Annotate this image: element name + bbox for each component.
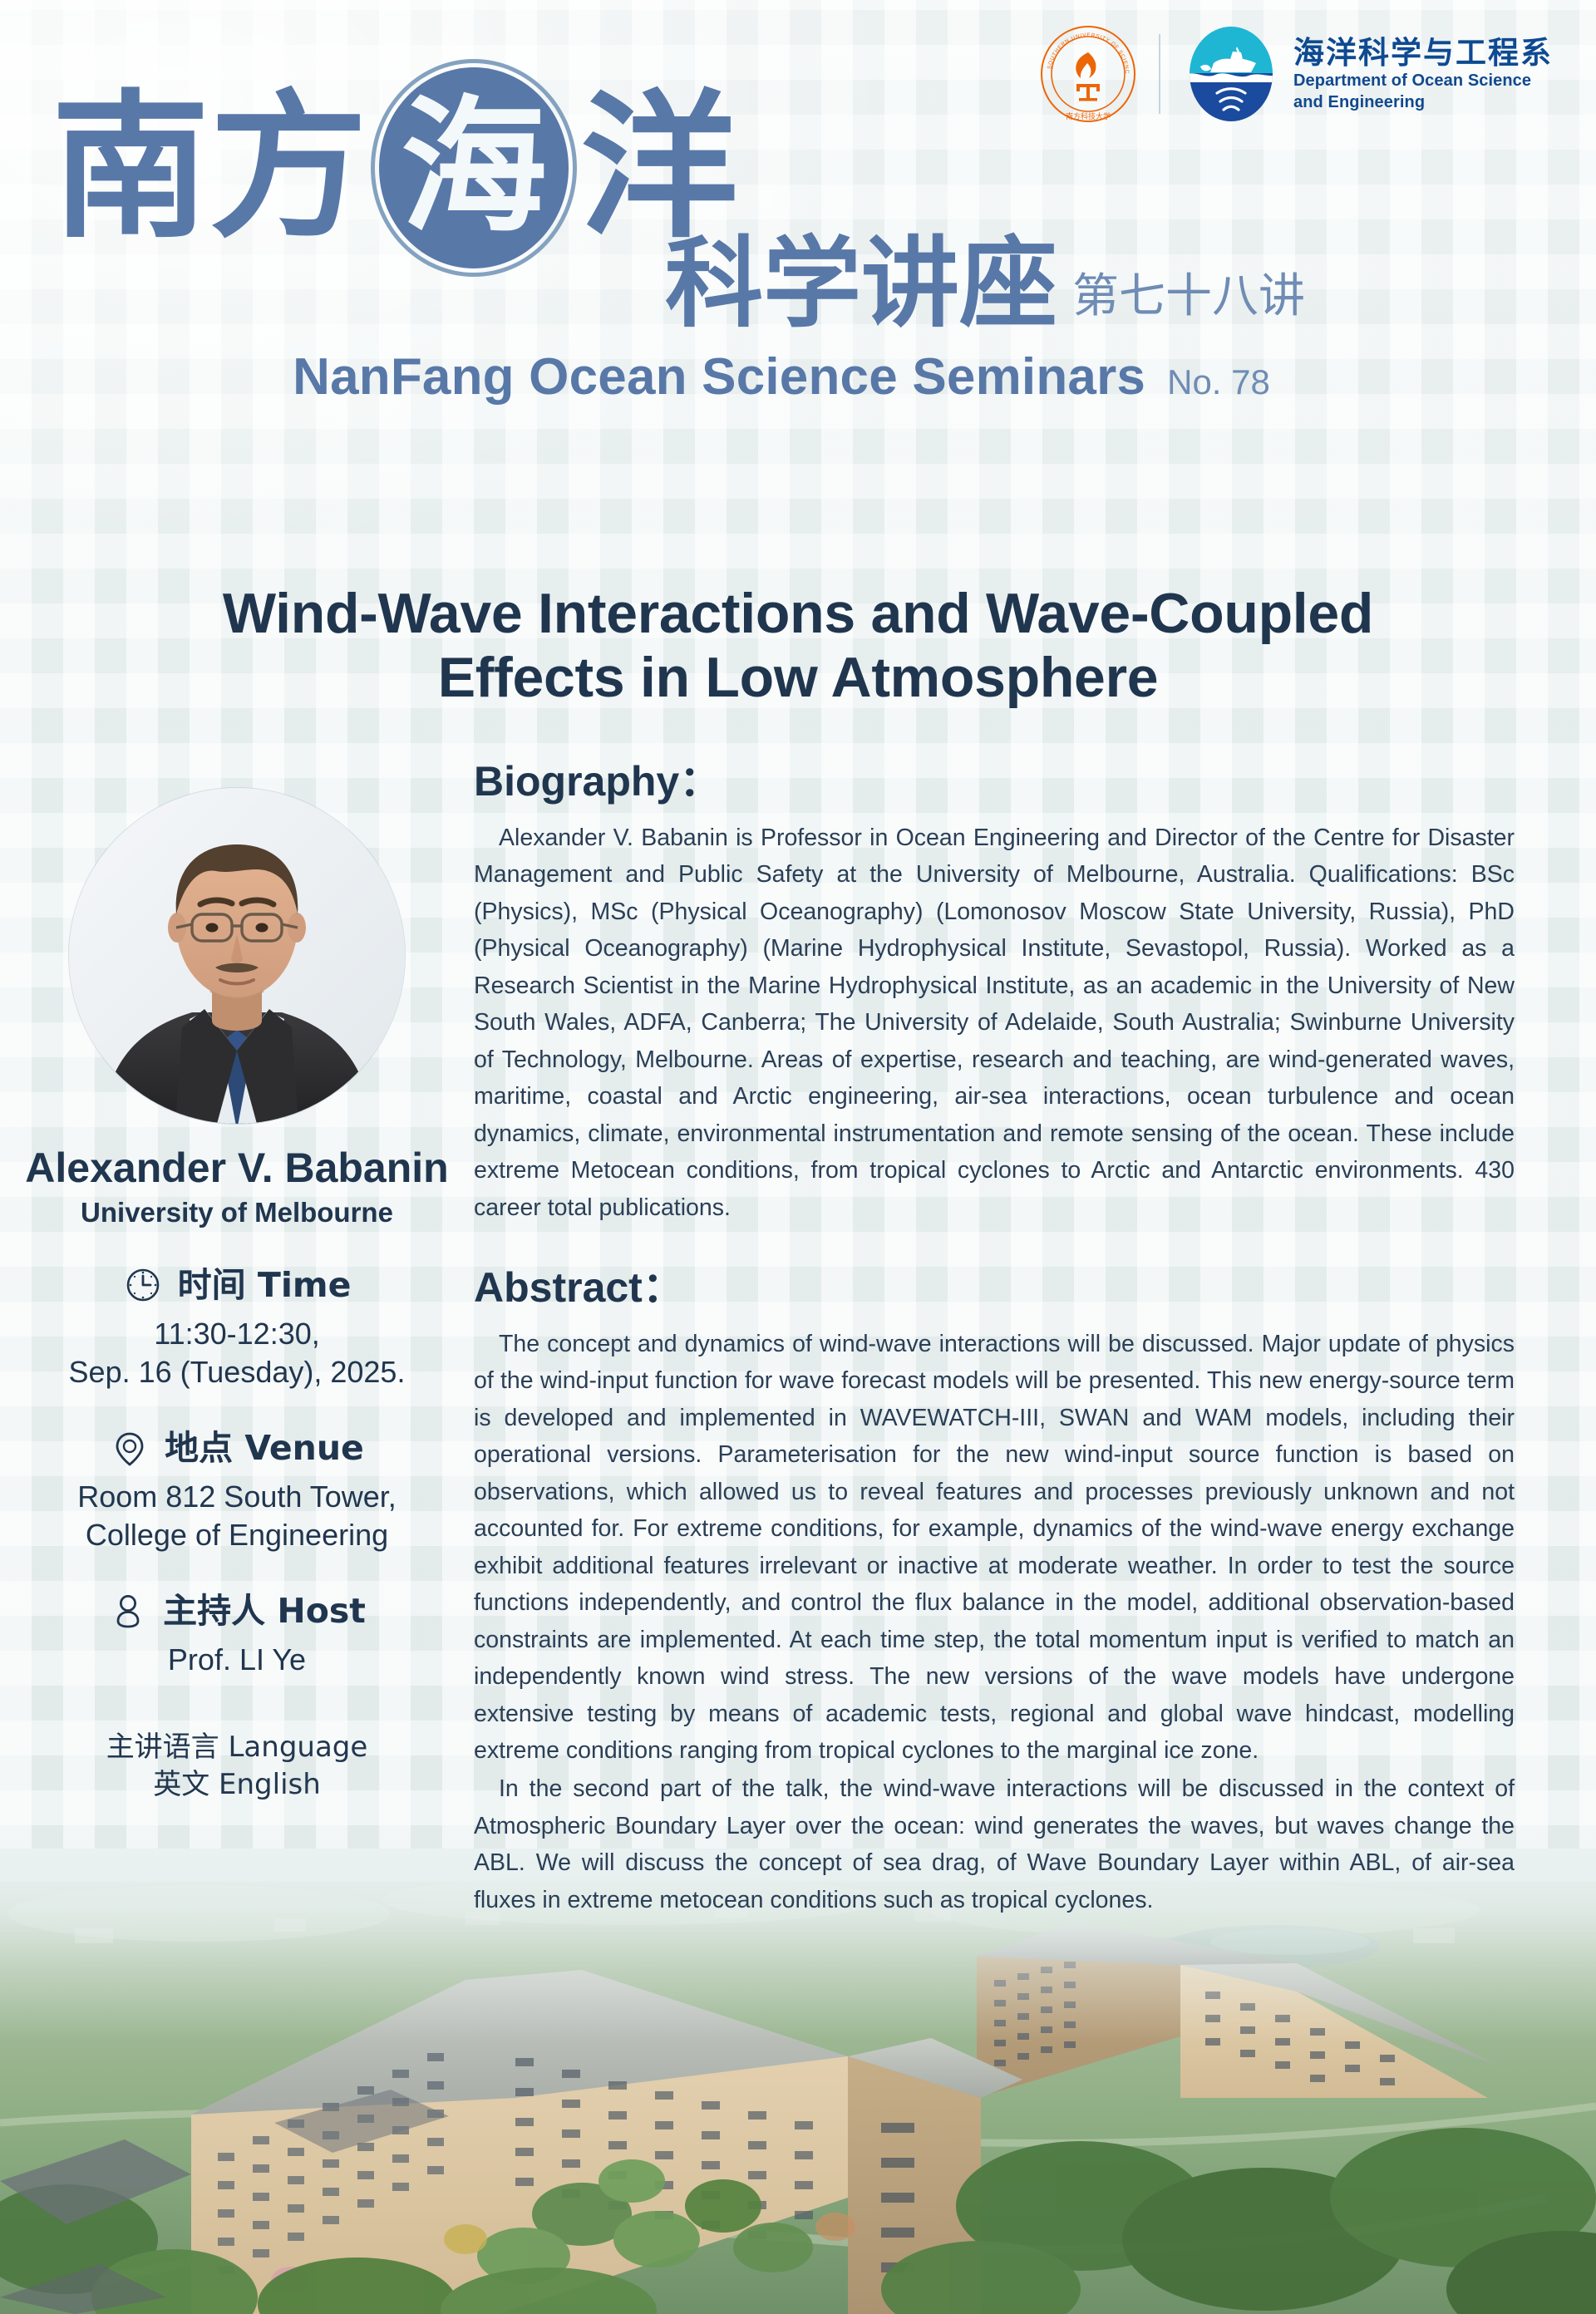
svg-text:SOUTHERN UNIVERSITY OF SCIENCE: SOUTHERN UNIVERSITY OF SCIENCE AND TECHN… bbox=[1039, 25, 1130, 74]
time-value-line-1: 11:30-12:30, bbox=[0, 1315, 474, 1353]
brand-char-fang: 方 bbox=[209, 89, 367, 247]
biography-heading: Biography： bbox=[474, 748, 1515, 808]
language-block: 主讲语言 Language 英文 English bbox=[106, 1729, 368, 1802]
abstract-paragraph-1: The concept and dynamics of wind-wave in… bbox=[474, 1326, 1515, 1769]
time-label: 时间 Time bbox=[178, 1268, 352, 1302]
brand-series-en: NanFang Ocean Science Seminars bbox=[293, 347, 1145, 406]
sustech-seal-icon: 南方科技大学 SOUTHERN UNIVERSITY OF SCIENCE AN… bbox=[1039, 25, 1137, 123]
seminar-poster: 南方科技大学 SOUTHERN UNIVERSITY OF SCIENCE AN… bbox=[0, 0, 1596, 2314]
svg-text:南方科技大学: 南方科技大学 bbox=[1066, 111, 1111, 121]
person-icon bbox=[108, 1591, 148, 1631]
brand-subtitle-cn: 科学讲座 bbox=[665, 234, 1057, 332]
abstract-heading: Abstract： bbox=[474, 1254, 1515, 1314]
biography-heading-colon: ： bbox=[679, 757, 721, 805]
department-name-cn: 海洋科学与工程系 bbox=[1293, 37, 1553, 69]
speaker-portrait bbox=[69, 788, 405, 1124]
biography-heading-text: Biography bbox=[474, 758, 679, 805]
abstract-paragraph-2: In the second part of the talk, the wind… bbox=[474, 1770, 1515, 1918]
host-block: 主持人 Host Prof. LI Ye bbox=[0, 1591, 474, 1679]
venue-block: 地点 Venue Room 812 South Tower, College o… bbox=[0, 1428, 474, 1554]
sustech-seal-logo: 南方科技大学 SOUTHERN UNIVERSITY OF SCIENCE AN… bbox=[1039, 25, 1137, 123]
biography-paragraph: Alexander V. Babanin is Professor in Oce… bbox=[474, 820, 1515, 1226]
talk-title: Wind-Wave Interactions and Wave-Coupled … bbox=[0, 582, 1596, 710]
brand-issue-cn: 第七十八讲 bbox=[1072, 258, 1305, 332]
brand-char-nan: 南 bbox=[52, 89, 209, 247]
time-header: 时间 Time bbox=[0, 1265, 474, 1305]
time-value-line-2: Sep. 16 (Tuesday), 2025. bbox=[0, 1353, 474, 1391]
abstract-body: The concept and dynamics of wind-wave in… bbox=[474, 1326, 1515, 1918]
logo-divider bbox=[1159, 34, 1160, 114]
brand-title-row-3: NanFang Ocean Science Seminars No. 78 bbox=[0, 347, 1596, 406]
venue-value: Room 812 South Tower, College of Enginee… bbox=[0, 1478, 474, 1554]
location-pin-icon bbox=[110, 1428, 150, 1468]
host-value: Prof. LI Ye bbox=[0, 1641, 474, 1679]
venue-label: 地点 Venue bbox=[165, 1431, 364, 1465]
language-label: 主讲语言 Language bbox=[106, 1729, 368, 1765]
speaker-affiliation: University of Melbourne bbox=[81, 1197, 393, 1228]
biography-body: Alexander V. Babanin is Professor in Oce… bbox=[474, 820, 1515, 1226]
brand-char-hai: 海 bbox=[401, 95, 547, 241]
brand-title-block: 南 方 海 洋 科学讲座 第七十八讲 NanFang Ocean Science… bbox=[0, 80, 1596, 406]
department-logo: 海洋科学与工程系 Department of Ocean Science and… bbox=[1182, 25, 1553, 123]
venue-header: 地点 Venue bbox=[0, 1428, 474, 1468]
department-name-en-line2: and Engineering bbox=[1293, 94, 1553, 111]
venue-value-line-1: Room 812 South Tower, bbox=[0, 1478, 474, 1516]
department-name-en-line1: Department of Ocean Science bbox=[1293, 72, 1553, 90]
brand-char-yang: 洋 bbox=[580, 89, 738, 247]
abstract-heading-text: Abstract bbox=[474, 1264, 643, 1311]
clock-icon bbox=[123, 1265, 163, 1305]
content-column: Biography： Alexander V. Babanin is Profe… bbox=[474, 748, 1554, 1918]
host-label: 主持人 Host bbox=[163, 1594, 366, 1628]
host-header: 主持人 Host bbox=[0, 1591, 474, 1631]
brand-issue-en: No. 78 bbox=[1167, 362, 1270, 402]
speaker-portrait-illustration bbox=[69, 788, 405, 1124]
abstract-heading-colon: ： bbox=[643, 1263, 684, 1312]
brand-char-hai-badge: 海 bbox=[371, 59, 577, 277]
speaker-name: Alexander V. Babanin bbox=[25, 1144, 448, 1192]
talk-title-line-2: Effects in Low Atmosphere bbox=[50, 646, 1546, 710]
header-logos: 南方科技大学 SOUTHERN UNIVERSITY OF SCIENCE AN… bbox=[1039, 25, 1553, 123]
ship-wave-icon bbox=[1182, 25, 1280, 123]
time-block: 时间 Time 11:30-12:30, Sep. 16 (Tuesday), … bbox=[0, 1265, 474, 1391]
time-value: 11:30-12:30, Sep. 16 (Tuesday), 2025. bbox=[0, 1315, 474, 1391]
language-value: 英文 English bbox=[106, 1766, 368, 1803]
speaker-info-column: Alexander V. Babanin University of Melbo… bbox=[0, 788, 474, 1803]
talk-title-line-1: Wind-Wave Interactions and Wave-Coupled bbox=[50, 582, 1546, 646]
venue-value-line-2: College of Engineering bbox=[0, 1516, 474, 1554]
